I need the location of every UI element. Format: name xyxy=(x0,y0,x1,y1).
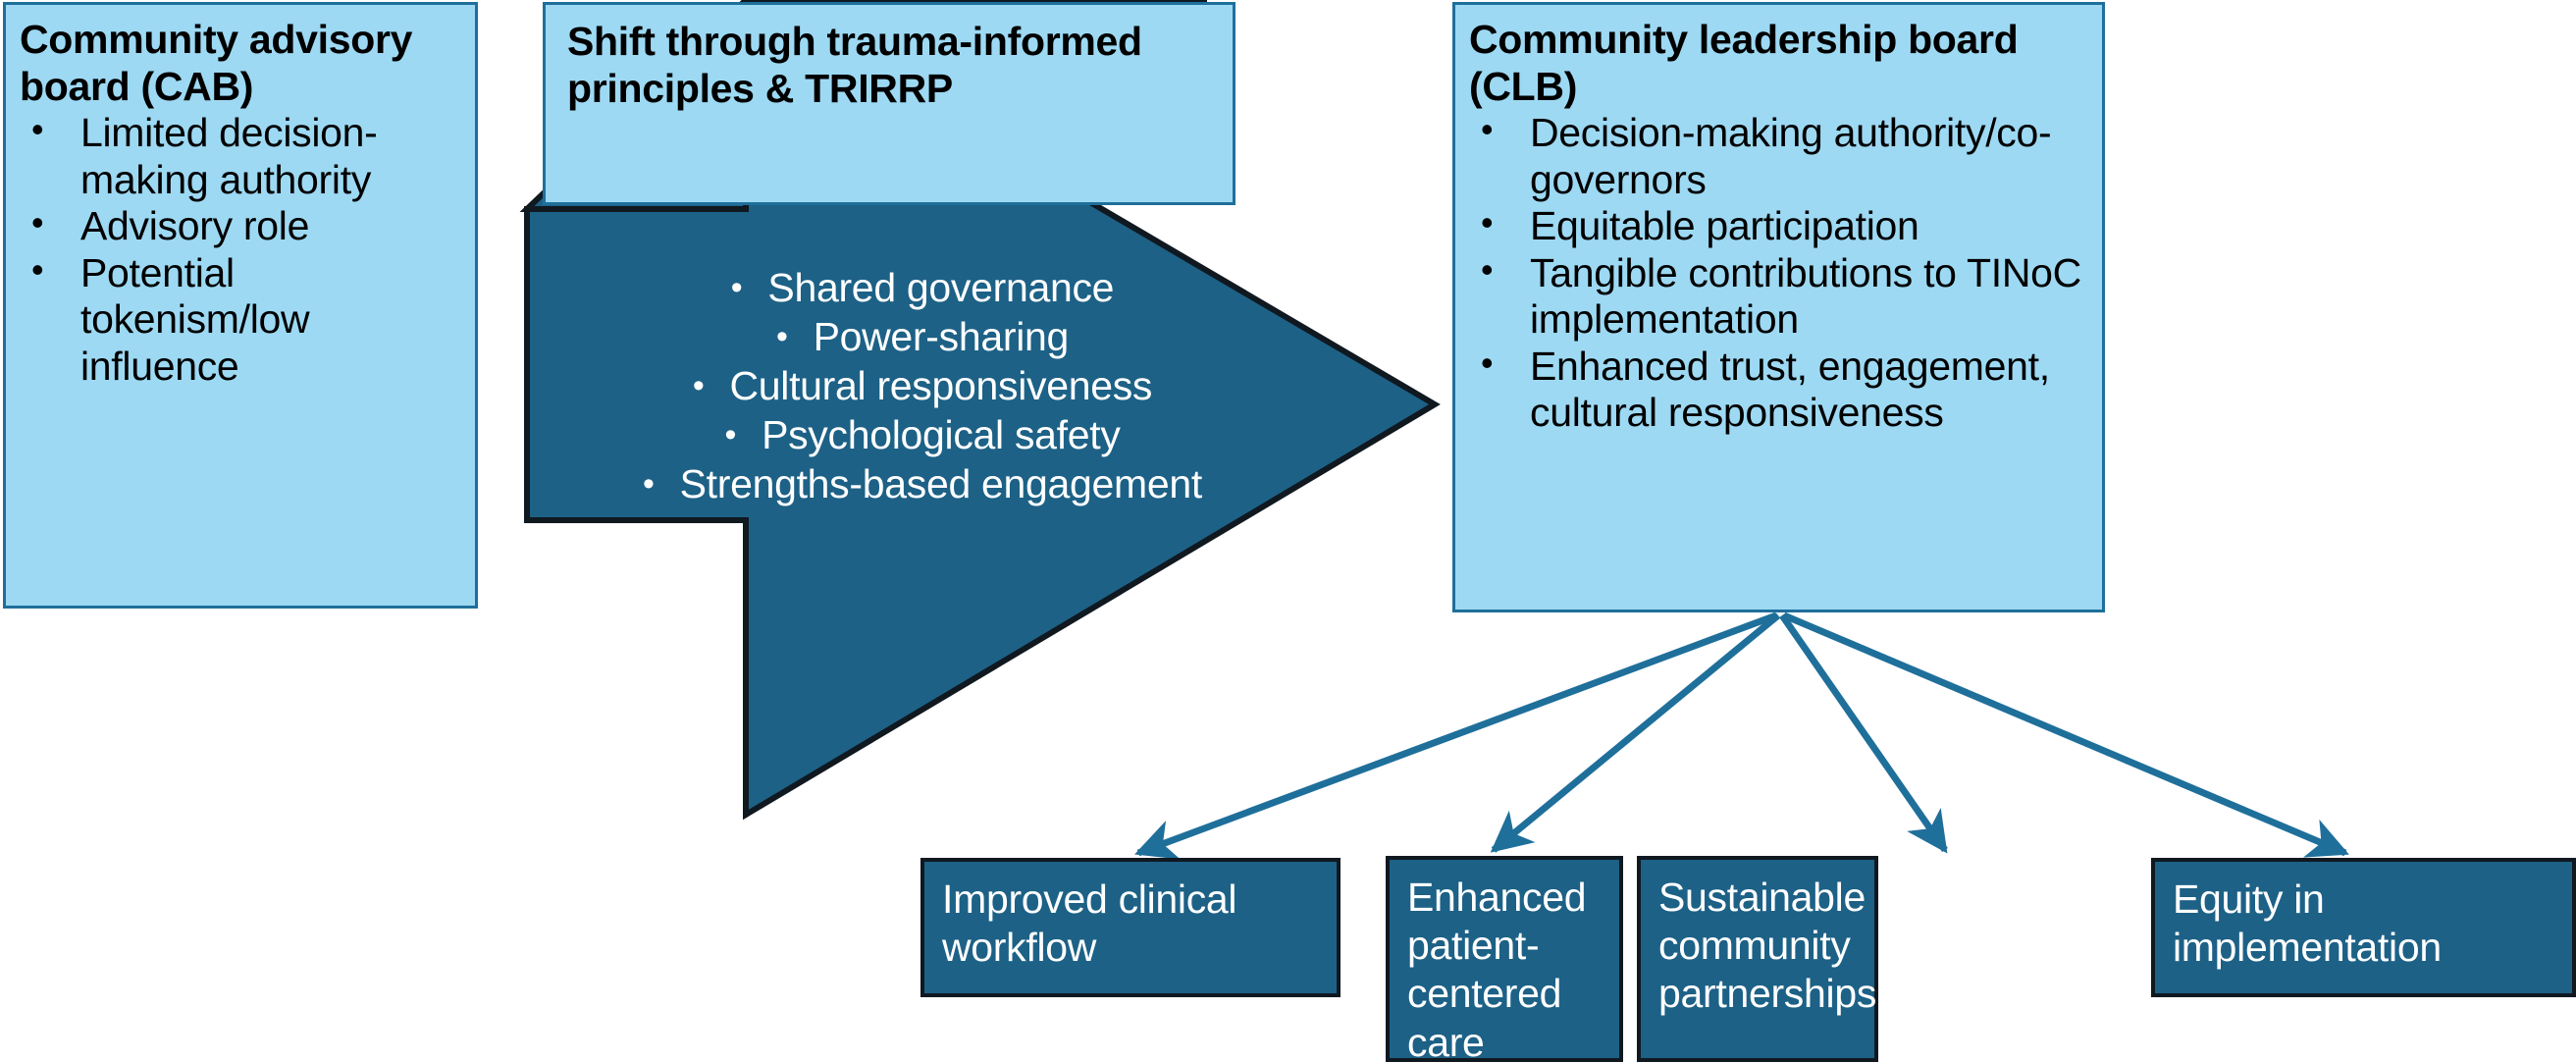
cab-bullet-item: Advisory role xyxy=(20,203,465,250)
arrow-list-item-label: Shared governance xyxy=(767,265,1114,310)
arrow-list-item-label: Cultural responsiveness xyxy=(729,363,1152,408)
cab-bullet-item: Potential tokenism/low influence xyxy=(20,250,465,391)
outcome-label: Sustainable community partnerships xyxy=(1658,875,1876,1016)
community-advisory-board-box: Community advisory board (CAB) Limited d… xyxy=(3,2,478,609)
outcome-box-improved-clinical-workflow: Improved clinical workflow xyxy=(920,858,1341,997)
outcome-label: Enhanced patient-centered care xyxy=(1407,875,1586,1062)
arrow-list-item: •Strengths-based engagement xyxy=(535,459,1310,508)
bullet-icon: • xyxy=(776,317,788,357)
clb-bullet-item: Enhanced trust, engagement, cultural res… xyxy=(1469,344,2092,437)
clb-bullet-list: Decision-making authority/co-governors E… xyxy=(1469,110,2092,437)
connector-to-enhanced-patient-centered-care xyxy=(1494,615,1778,850)
arrow-list-item-label: Strengths-based engagement xyxy=(680,461,1202,506)
diagram-canvas: Community advisory board (CAB) Limited d… xyxy=(0,0,2576,1062)
outcome-label: Equity in implementation xyxy=(2173,876,2442,970)
outcome-box-sustainable-community-partnerships: Sustainable community partnerships xyxy=(1637,856,1878,1062)
clb-bullet-item: Tangible contributions to TINoC implemen… xyxy=(1469,250,2092,344)
arrow-header-box: Shift through trauma-informed principles… xyxy=(543,2,1235,205)
outcome-box-equity-in-implementation: Equity in implementation xyxy=(2151,858,2576,997)
bullet-icon: • xyxy=(724,415,736,455)
clb-bullet-item: Equitable participation xyxy=(1469,203,2092,250)
cab-bullet-item: Limited decision-making authority xyxy=(20,110,465,203)
clb-title: Community leadership board (CLB) xyxy=(1469,17,2092,110)
outcome-box-enhanced-patient-centered-care: Enhanced patient-centered care xyxy=(1386,856,1623,1062)
arrow-header-title: Shift through trauma-informed principles… xyxy=(567,19,1223,112)
bullet-icon: • xyxy=(643,464,655,504)
arrow-list-item: •Shared governance xyxy=(535,263,1310,312)
arrow-list-item-label: Psychological safety xyxy=(762,412,1120,457)
bullet-icon: • xyxy=(731,268,743,308)
arrow-list-item: •Power-sharing xyxy=(535,312,1310,361)
arrow-list-item: •Psychological safety xyxy=(535,410,1310,459)
community-leadership-board-box: Community leadership board (CLB) Decisio… xyxy=(1452,2,2105,612)
arrow-list-item-label: Power-sharing xyxy=(814,314,1069,359)
connector-to-sustainable-community-partnerships xyxy=(1782,615,1945,850)
bullet-icon: • xyxy=(693,366,705,406)
outcome-label: Improved clinical workflow xyxy=(942,876,1236,970)
connector-to-equity-in-implementation xyxy=(1784,615,2345,853)
cab-bullet-list: Limited decision-making authority Adviso… xyxy=(20,110,465,390)
arrow-list-item: •Cultural responsiveness xyxy=(535,361,1310,410)
cab-title: Community advisory board (CAB) xyxy=(20,17,465,110)
clb-bullet-item: Decision-making authority/co-governors xyxy=(1469,110,2092,203)
arrow-principles-list: •Shared governance •Power-sharing •Cultu… xyxy=(535,263,1310,508)
